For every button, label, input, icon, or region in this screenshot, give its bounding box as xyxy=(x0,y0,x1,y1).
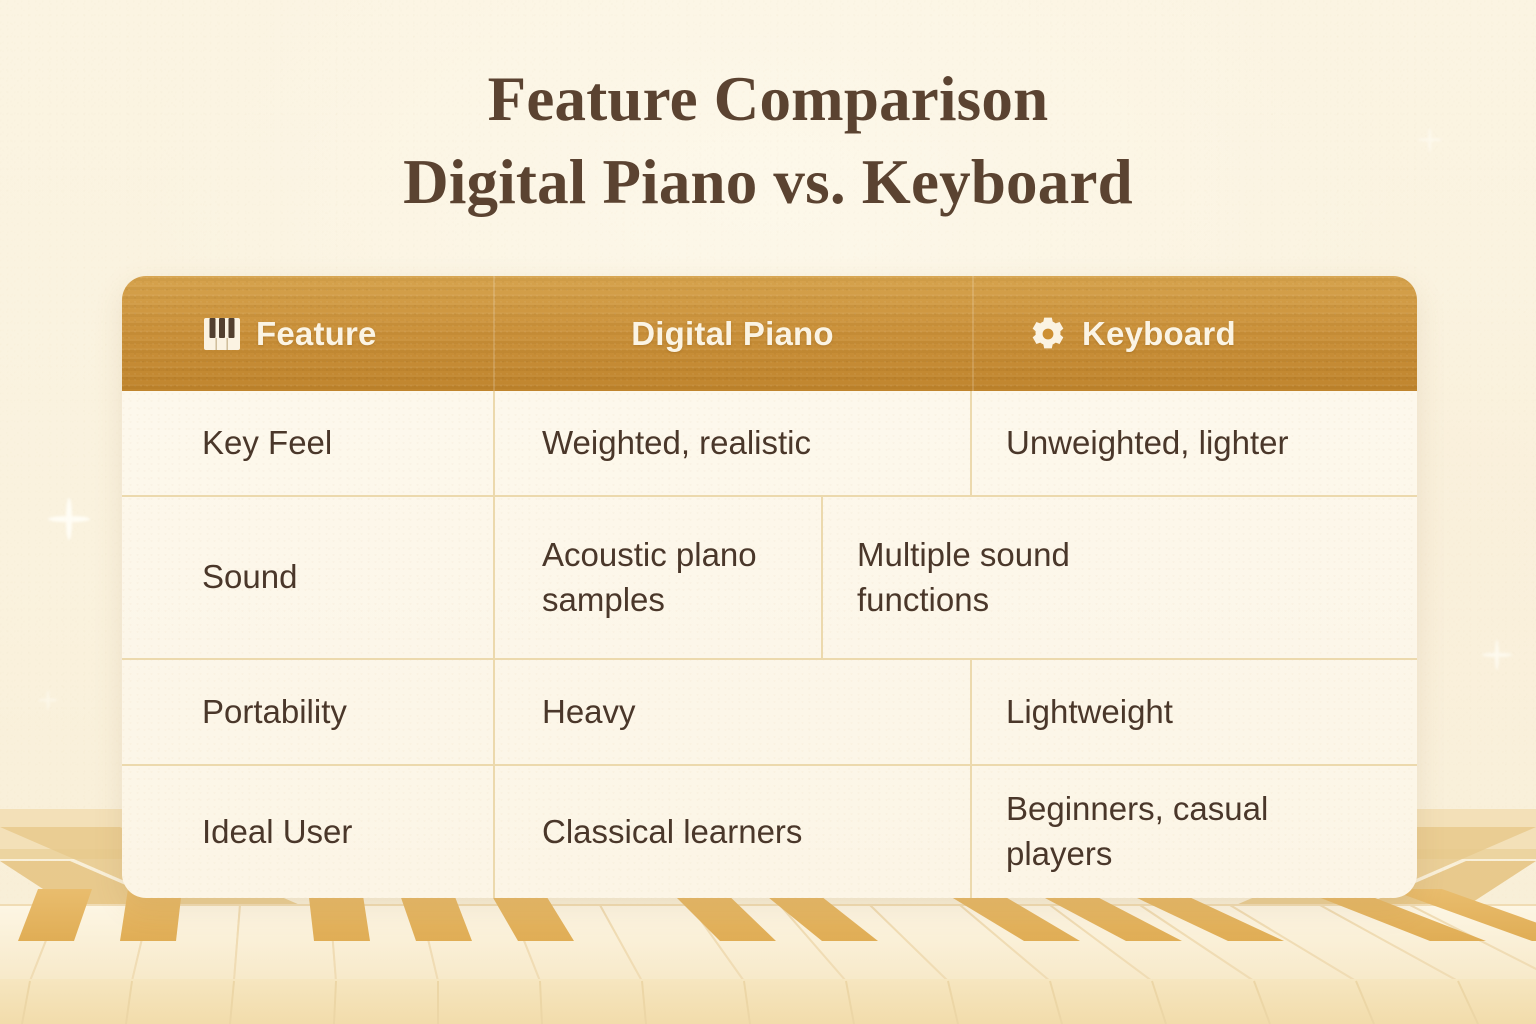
cell-keyboard: Multiple sound functions xyxy=(823,497,1143,658)
cell-feature: Key Feel xyxy=(122,391,493,495)
table-row: Sound Acoustic plano samples Multiple so… xyxy=(122,497,1417,660)
table-header-row: Feature Digital Piano Keyboard xyxy=(122,276,1417,391)
comparison-table: Feature Digital Piano Keyboard Key Feel … xyxy=(122,276,1417,898)
cell-feature: Sound xyxy=(122,497,493,658)
cell-keyboard: Lightweight xyxy=(972,660,1417,764)
gear-icon xyxy=(1028,314,1068,354)
table-row: Ideal User Classical learners Beginners,… xyxy=(122,766,1417,898)
cell-digital-piano: Classical learners xyxy=(493,766,972,898)
table-header-label-digital-piano: Digital Piano xyxy=(631,315,833,353)
piano-keys-icon xyxy=(202,314,242,354)
page-title: Feature Comparison Digital Piano vs. Key… xyxy=(0,58,1536,223)
title-line-1: Feature Comparison xyxy=(0,58,1536,141)
cell-feature: Portability xyxy=(122,660,493,764)
table-row: Key Feel Weighted, realistic Unweighted,… xyxy=(122,391,1417,497)
table-header-label-feature: Feature xyxy=(256,315,377,353)
table-row: Portability Heavy Lightweight xyxy=(122,660,1417,766)
table-header-cell-digital-piano: Digital Piano xyxy=(493,315,972,353)
cell-keyboard: Unweighted, lighter xyxy=(972,391,1417,495)
title-line-2: Digital Piano vs. Keyboard xyxy=(0,141,1536,224)
cell-digital-piano: Acoustic plano samples xyxy=(493,497,823,658)
table-body: Key Feel Weighted, realistic Unweighted,… xyxy=(122,391,1417,898)
cell-digital-piano: Weighted, realistic xyxy=(493,391,972,495)
cell-keyboard: Beginners, casual players xyxy=(972,766,1312,898)
cell-feature: Ideal User xyxy=(122,766,493,898)
table-header-label-keyboard: Keyboard xyxy=(1082,315,1236,353)
cell-digital-piano: Heavy xyxy=(493,660,972,764)
table-header-cell-keyboard: Keyboard xyxy=(972,314,1417,354)
table-header-cell-feature: Feature xyxy=(122,314,493,354)
